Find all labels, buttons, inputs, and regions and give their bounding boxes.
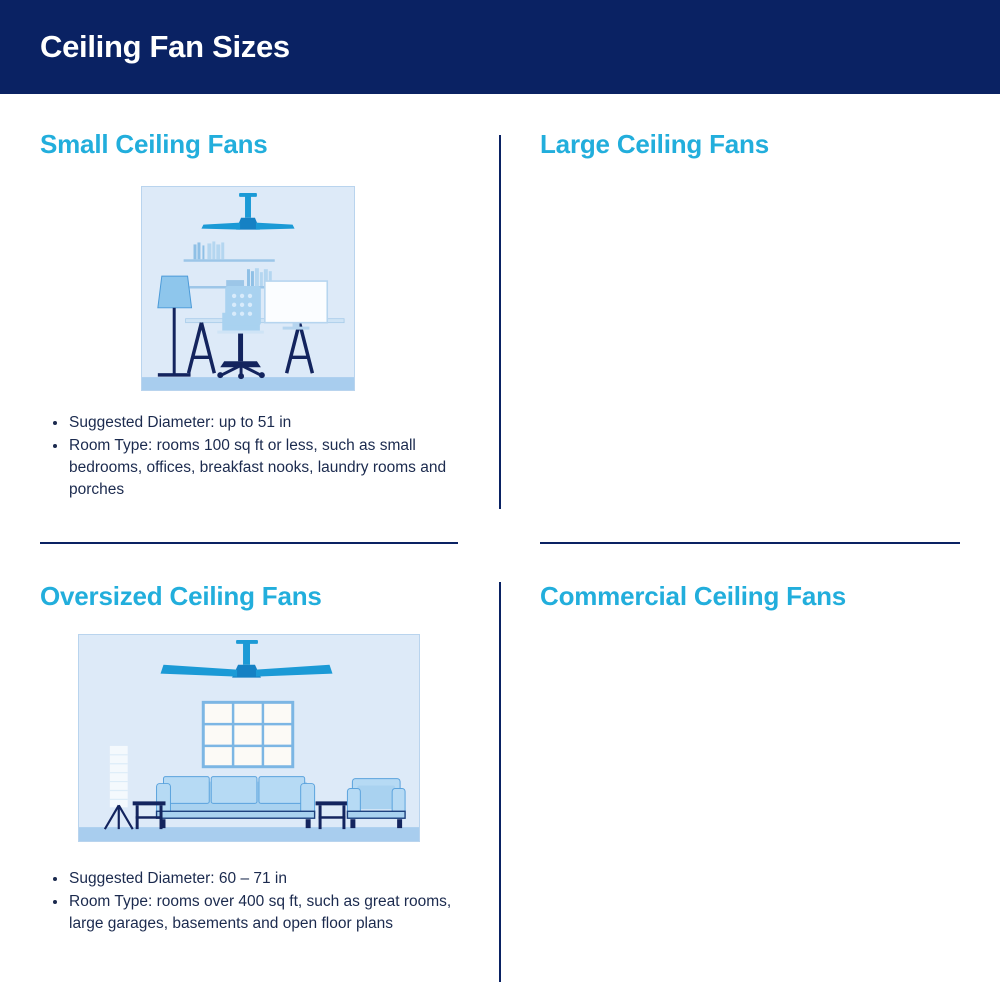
section-oversized-ceiling-fans: Oversized Ceiling Fans [0, 546, 500, 1000]
floor-lamp [158, 276, 192, 377]
section-title-oversized: Oversized Ceiling Fans [40, 581, 322, 612]
sections-grid: Small Ceiling Fans [0, 94, 1000, 1000]
ceiling-fan-icon [161, 640, 333, 678]
window [203, 702, 292, 766]
section-title-small: Small Ceiling Fans [40, 129, 268, 160]
illustration-living-room-scene [78, 634, 420, 842]
illustration-home-office-scene [141, 186, 355, 391]
armchair [347, 779, 405, 829]
list-item: Suggested Diameter: 60 – 71 in [52, 868, 452, 890]
section-small-ceiling-fans: Small Ceiling Fans [0, 94, 500, 546]
side-table-left [133, 801, 166, 829]
bullet-list-small: Suggested Diameter: up to 51 in Room Typ… [52, 412, 477, 502]
side-table-right [316, 801, 349, 829]
page-header: Ceiling Fan Sizes [0, 0, 1000, 94]
list-item: Room Type: rooms over 400 sq ft, such as… [52, 891, 452, 935]
computer-monitor [265, 281, 327, 330]
page-title: Ceiling Fan Sizes [40, 29, 290, 65]
section-title-large: Large Ceiling Fans [540, 129, 769, 160]
infographic-page: Ceiling Fan Sizes Small Ceiling Fans [0, 0, 1000, 1000]
section-commercial-ceiling-fans: Commercial Ceiling Fans [500, 546, 1000, 1000]
list-item: Suggested Diameter: up to 51 in [52, 412, 477, 434]
bullet-list-oversized: Suggested Diameter: 60 – 71 in Room Type… [52, 868, 452, 936]
ceiling-fan-icon [201, 193, 294, 230]
section-title-commercial: Commercial Ceiling Fans [540, 581, 846, 612]
floor-lamp [105, 746, 133, 829]
sofa [157, 777, 315, 829]
office-chair [217, 286, 265, 379]
section-large-ceiling-fans: Large Ceiling Fans [500, 94, 1000, 546]
list-item: Room Type: rooms 100 sq ft or less, such… [52, 435, 477, 501]
